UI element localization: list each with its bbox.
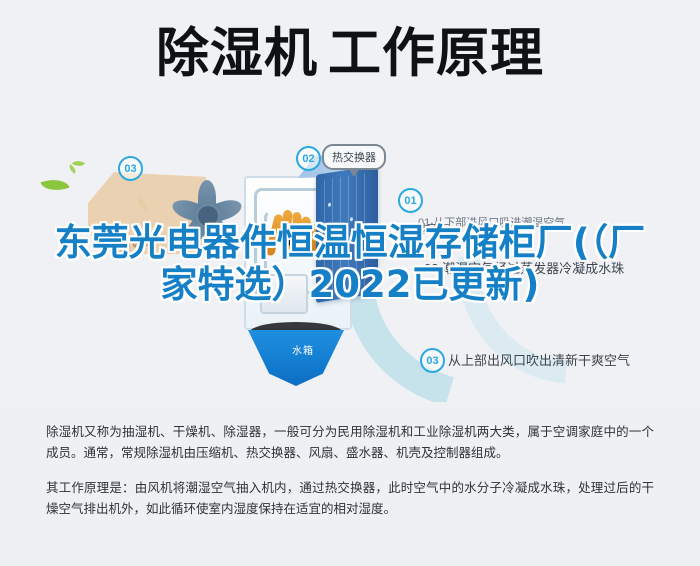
water-tank-label: 水箱 [292,342,314,357]
heat-exchanger-fins [316,165,378,303]
page-title-part1: 除湿机 [156,23,318,84]
step-marker-03-right: 03 [420,348,445,373]
paragraph-1: 除湿机又称为抽湿机、干燥机、除湿器，一般可分为民用除湿机和工业除湿机两大类，属于… [46,422,654,464]
page-title-part2: 工作原理 [328,23,544,84]
annotation-01-full: 01 从下部进风口吸进潮湿空气 [418,214,565,230]
leaf-icon [40,174,69,195]
dehumidifier-unit [244,170,376,334]
step-marker-03-left: 03 [118,156,143,181]
hero-illustration: 除湿机工作原理 干爽空气 [0,0,700,402]
page-title: 除湿机工作原理 [0,24,700,85]
heat-exchanger-callout: 热交换器 [322,144,386,170]
annotation-02: 02 潮湿空气经过蒸发器冷凝成水珠 [424,258,624,277]
airflow-arrow-icon [288,234,302,246]
fan-icon [168,176,244,252]
water-tank-icon [248,330,344,386]
step-marker-01: 01 [398,188,423,213]
compressor-box [260,274,308,314]
dry-air-label: 干爽空气 [108,238,156,254]
step-marker-02: 02 [296,146,321,171]
fan-hub [196,204,220,228]
annotation-03: 从上部出风口吹出清新干爽空气 [448,350,630,369]
article-body: 除湿机又称为抽湿机、干燥机、除湿器，一般可分为民用除湿机和工业除湿机两大类，属于… [0,402,700,566]
page-root: 除湿机工作原理 干爽空气 [0,0,700,566]
paragraph-2: 其工作原理是：由风机将潮湿空气抽入机内，通过热交换器，此时空气中的水分子冷凝成水… [46,478,654,520]
